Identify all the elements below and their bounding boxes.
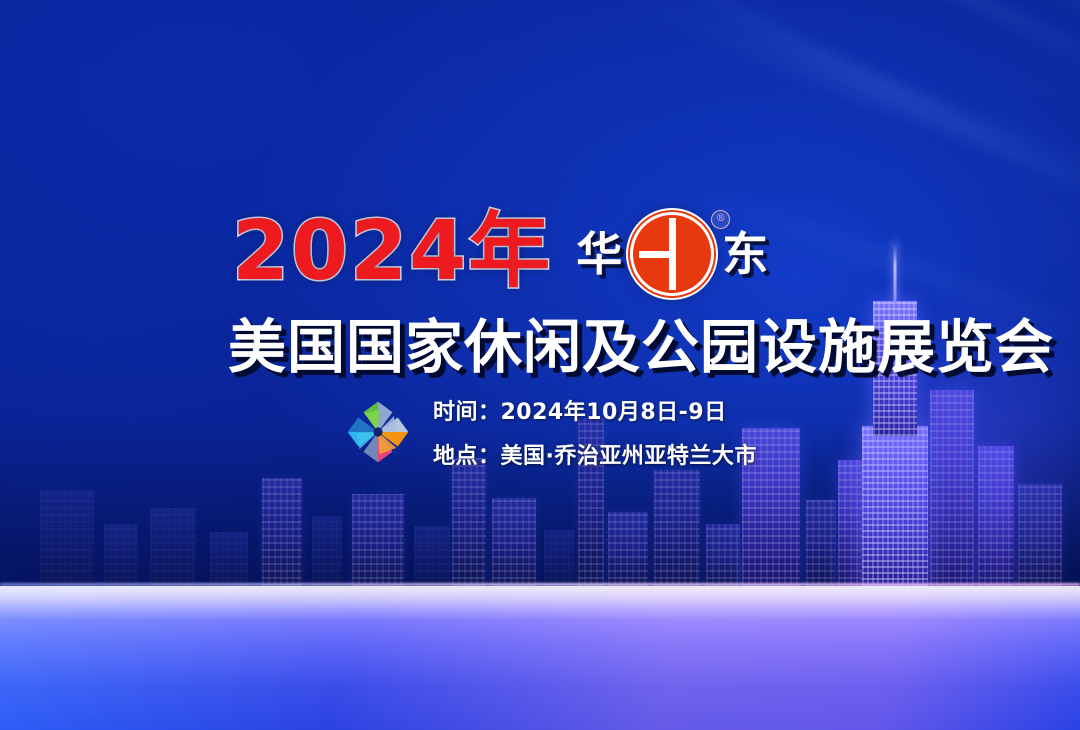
pinwheel-star-icon	[345, 399, 411, 465]
headline-row: 2024年 华 ® 东	[232, 208, 768, 296]
event-date-line: 时间：2024年10月8日-9日	[433, 394, 757, 426]
event-info-lines: 时间：2024年10月8日-9日 地点：美国·乔治亚州亚特兰大市	[433, 394, 757, 470]
event-location-line: 地点：美国·乔治亚州亚特兰大市	[433, 438, 757, 470]
emblem-horizontal-bar	[639, 251, 672, 258]
brand-char-right: 东	[722, 231, 768, 277]
page-title: 美国国家休闲及公园设施展览会	[228, 318, 1054, 376]
brand-char-left: 华	[576, 231, 622, 277]
emblem-circle	[630, 212, 714, 296]
banner-content: 2024年 华 ® 东 美国国家休闲及公园设施展览会	[0, 0, 1080, 730]
emblem-vertical-bar	[669, 218, 676, 290]
year-headline: 2024年	[232, 211, 552, 293]
event-info-block: 时间：2024年10月8日-9日 地点：美国·乔治亚州亚特兰大市	[345, 394, 757, 470]
brand-logo-lockup: 华 ® 东	[576, 212, 768, 296]
event-promo-banner: 2024年 华 ® 东 美国国家休闲及公园设施展览会	[0, 0, 1080, 730]
huadong-emblem-icon: ®	[630, 212, 714, 296]
